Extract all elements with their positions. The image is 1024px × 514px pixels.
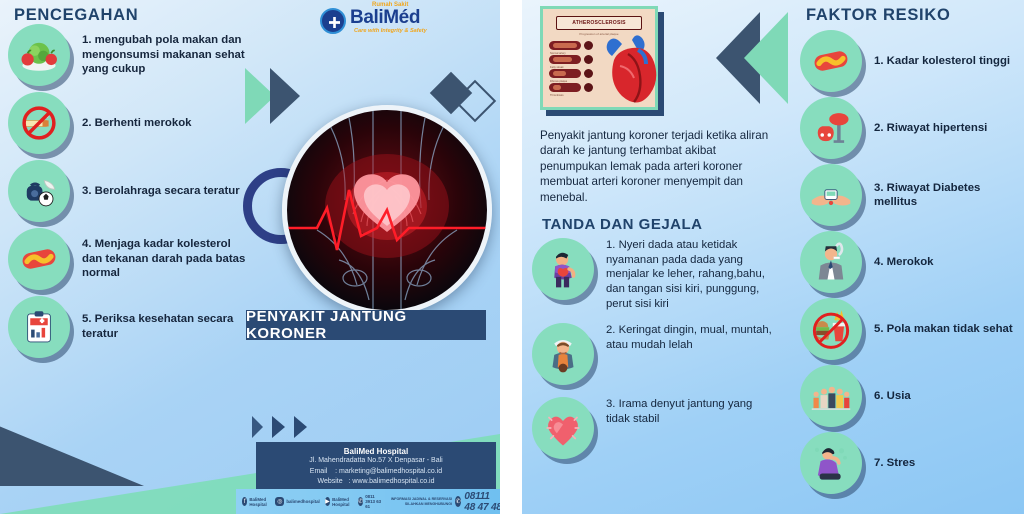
website-label: Website <box>317 478 342 485</box>
phone-icon: ✆ <box>455 496 461 507</box>
artery-plaque-glyph <box>18 238 60 280</box>
list-item-text: 2. Riwayat hipertensi <box>874 121 1014 135</box>
list-item-label: Menjaga kadar kolesterol dan tekanan dar… <box>82 238 245 279</box>
blood-pressure-icon <box>800 97 862 159</box>
hospital-address: Jl. Mahendradatta No.57 X Denpasar - Bal… <box>260 456 492 467</box>
list-item-label: Riwayat hipertensi <box>887 122 988 134</box>
glucose-test-icon <box>800 164 862 226</box>
symptoms-list: 1. Nyeri dada atau ketidak nyamanan pada… <box>532 238 792 471</box>
list-item-text: 7. Stres <box>874 456 1014 470</box>
logo-cross-icon <box>320 8 346 34</box>
list-item-number: 2. <box>82 117 92 129</box>
list-item-text: 1. Nyeri dada atau ketidak nyamanan pada… <box>606 238 774 311</box>
list-item-text: 1. Kadar kolesterol tinggi <box>874 54 1014 68</box>
list-item-number: 2. <box>606 324 615 336</box>
list-item-text: 3. Irama denyut jantung yang tidak stabi… <box>606 397 774 426</box>
arrow-icon <box>272 416 285 438</box>
list-item-label: Irama denyut jantung yang tidak stabil <box>606 398 752 425</box>
list-item-number: 2. <box>874 122 884 134</box>
list-item-text: 2. Keringat dingin, mual, muntah, atau m… <box>606 323 774 352</box>
chest-pain-icon <box>532 238 594 300</box>
youtube-handle: BaliMed Hospital <box>332 497 353 507</box>
stress-person-glyph <box>810 442 852 484</box>
youtube-icon: ▶ <box>325 497 330 506</box>
list-item-label: mengubah pola makan dan mengonsumsi maka… <box>82 34 245 75</box>
medical-checklist-icon <box>8 296 70 358</box>
list-item: 5. Pola makan tidak sehat <box>800 298 1024 360</box>
social-whatsapp[interactable]: ✆ 0811 3913 63 61 <box>358 494 384 509</box>
people-ages-icon <box>800 365 862 427</box>
heart-hero-image <box>282 105 492 315</box>
list-item: 3. Berolahraga secara teratur <box>8 160 258 222</box>
exercise-icon <box>8 160 70 222</box>
arrhythmia-heart-glyph <box>542 407 584 449</box>
risk-section-title: FAKTOR RESIKO <box>806 6 950 25</box>
list-item: 6. Usia <box>800 365 1024 427</box>
list-item: 4. Merokok <box>800 231 1024 293</box>
whatsapp-handle: 0811 3913 63 61 <box>365 494 384 509</box>
list-item: 1. Nyeri dada atau ketidak nyamanan pada… <box>532 238 792 311</box>
list-item-label: Riwayat Diabetes mellitus <box>874 182 980 208</box>
list-item-number: 6. <box>874 390 884 402</box>
social-youtube[interactable]: ▶ BaliMed Hospital <box>325 497 353 507</box>
heart-anatomy-illustration <box>287 110 487 310</box>
nausea-icon <box>532 323 594 385</box>
list-item-number: 3. <box>606 398 615 410</box>
list-item-number: 3. <box>874 182 884 194</box>
list-item-label: Kadar kolesterol tinggi <box>887 55 1010 67</box>
list-item: 2. Riwayat hipertensi <box>800 97 1024 159</box>
list-item-text: 5. Pola makan tidak sehat <box>874 322 1014 336</box>
facebook-icon: f <box>242 497 247 506</box>
phone-block: INFORMASI JADWAL & RESERVASI SILAHKAN ME… <box>389 491 500 513</box>
email-label: Email <box>310 468 328 475</box>
smoking-man-glyph <box>810 241 852 283</box>
artery-plaque-icon <box>800 30 862 92</box>
list-item-label: Berhenti merokok <box>95 117 192 129</box>
list-item: 3. Irama denyut jantung yang tidak stabi… <box>532 397 792 459</box>
risk-factors-list: 1. Kadar kolesterol tinggi 2. Riwayat hi… <box>800 30 1024 499</box>
teal-chevron-right-icon <box>744 12 788 104</box>
hospital-website: Website : www.balimedhospital.co.id <box>260 477 492 488</box>
navy-corner-shape <box>0 424 144 486</box>
list-item-text: 4. Merokok <box>874 255 1014 269</box>
facebook-handle: BaliMed Hospital <box>249 497 270 507</box>
email-value: : marketing@balimedhospital.co.id <box>335 468 442 475</box>
list-item-number: 1. <box>82 34 92 46</box>
infographic-canvas: PENCEGAHAN Rumah Sakit BaliMéd Care with… <box>0 0 1024 514</box>
prevention-list: 1. mengubah pola makan dan mengonsumsi m… <box>8 24 258 364</box>
list-item-label: Pola makan tidak sehat <box>887 323 1013 335</box>
social-facebook[interactable]: f BaliMed Hospital <box>242 497 270 507</box>
list-item: 1. Kadar kolesterol tinggi <box>800 30 1024 92</box>
no-junk-food-glyph <box>810 308 852 350</box>
list-item: 1. mengubah pola makan dan mengonsumsi m… <box>8 24 258 86</box>
list-item-number: 5. <box>82 313 92 325</box>
balimed-logo: Rumah Sakit BaliMéd Care with Integrity … <box>320 2 444 38</box>
phone-note: INFORMASI JADWAL & RESERVASI SILAHKAN ME… <box>389 497 452 506</box>
list-item: 2. Berhenti merokok <box>8 92 258 154</box>
vegetables-fruit-icon <box>8 24 70 86</box>
list-item-number: 4. <box>82 238 92 250</box>
list-item-label: Berolahraga secara teratur <box>95 185 240 197</box>
social-bar: f BaliMed Hospital ◎ balimedhospital ▶ B… <box>236 489 500 514</box>
stress-person-icon <box>800 432 862 494</box>
whatsapp-icon: ✆ <box>358 497 363 506</box>
list-item-label: Merokok <box>887 256 934 268</box>
list-item-number: 4. <box>874 256 884 268</box>
no-smoking-icon <box>8 92 70 154</box>
hospital-email: Email : marketing@balimedhospital.co.id <box>260 467 492 478</box>
social-instagram[interactable]: ◎ balimedhospital <box>275 497 319 506</box>
prevention-section-title: PENCEGAHAN <box>14 6 138 25</box>
atherosclerosis-mini-poster: ATHEROSCLEROSIS Progression of arterial … <box>540 6 662 114</box>
list-item: 2. Keringat dingin, mual, muntah, atau m… <box>532 323 792 385</box>
instagram-handle: balimedhospital <box>286 499 319 504</box>
no-smoking-glyph <box>18 102 60 144</box>
symptoms-heading: TANDA DAN GEJALA <box>542 216 703 233</box>
list-item-text: 3. Berolahraga secara teratur <box>82 184 254 199</box>
list-item-text: 6. Usia <box>874 389 1014 403</box>
list-item-text: 4. Menjaga kadar kolesterol dan tekanan … <box>82 237 254 281</box>
list-item-number: 5. <box>874 323 884 335</box>
heart-illustration-icon <box>602 32 658 110</box>
smoking-man-icon <box>800 231 862 293</box>
list-item-number: 3. <box>82 185 92 197</box>
vegetables-fruit-glyph <box>18 34 60 76</box>
arrow-icon <box>294 416 307 438</box>
half-arrow-icon <box>252 416 263 438</box>
list-item-label: Usia <box>887 390 911 402</box>
exercise-glyph <box>18 170 60 212</box>
artery-plaque-glyph <box>810 40 852 82</box>
logo-tagline: Care with Integrity & Safety <box>354 28 427 34</box>
medical-checklist-glyph <box>18 306 60 348</box>
people-ages-glyph <box>810 375 852 417</box>
list-item-label: Periksa kesehatan secara teratur <box>82 313 233 340</box>
phone-number: 08111 48 47 48 <box>464 491 500 513</box>
list-item-text: 5. Periksa kesehatan secara teratur <box>82 312 254 341</box>
blood-pressure-glyph <box>810 107 852 149</box>
artery-plaque-icon <box>8 228 70 290</box>
list-item: 3. Riwayat Diabetes mellitus <box>800 164 1024 226</box>
chest-pain-glyph <box>542 248 584 290</box>
list-item-label: Nyeri dada atau ketidak nyamanan pada da… <box>606 239 765 310</box>
left-poster: PENCEGAHAN Rumah Sakit BaliMéd Care with… <box>0 0 500 514</box>
list-item-number: 1. <box>874 55 884 67</box>
no-junk-food-icon <box>800 298 862 360</box>
contact-block: BaliMed Hospital Jl. Mahendradatta No.57… <box>256 442 496 494</box>
list-item: 5. Periksa kesehatan secara teratur <box>8 296 258 358</box>
list-item-text: 1. mengubah pola makan dan mengonsumsi m… <box>82 33 254 77</box>
nausea-glyph <box>542 333 584 375</box>
list-item: 7. Stres <box>800 432 1024 494</box>
hospital-name: BaliMed Hospital <box>260 447 492 456</box>
arrow-decoration-group <box>252 416 307 438</box>
instagram-icon: ◎ <box>275 497 284 506</box>
list-item-text: 3. Riwayat Diabetes mellitus <box>874 181 1014 210</box>
arrhythmia-heart-icon <box>532 397 594 459</box>
logo-brand-name: BaliMéd <box>350 7 420 29</box>
list-item-label: Keringat dingin, mual, muntah, atau muda… <box>606 324 772 351</box>
lead-paragraph: Penyakit jantung koroner terjadi ketika … <box>540 128 772 205</box>
list-item-text: 2. Berhenti merokok <box>82 116 254 131</box>
list-item-number: 7. <box>874 457 884 469</box>
list-item-number: 1. <box>606 239 615 251</box>
list-item: 4. Menjaga kadar kolesterol dan tekanan … <box>8 228 258 290</box>
glucose-test-glyph <box>810 174 852 216</box>
website-value: : www.balimedhospital.co.id <box>349 478 435 485</box>
page-title: PENYAKIT JANTUNG KORONER <box>246 310 486 340</box>
page-title-text: PENYAKIT JANTUNG KORONER <box>246 308 486 342</box>
list-item-label: Stres <box>887 457 916 469</box>
